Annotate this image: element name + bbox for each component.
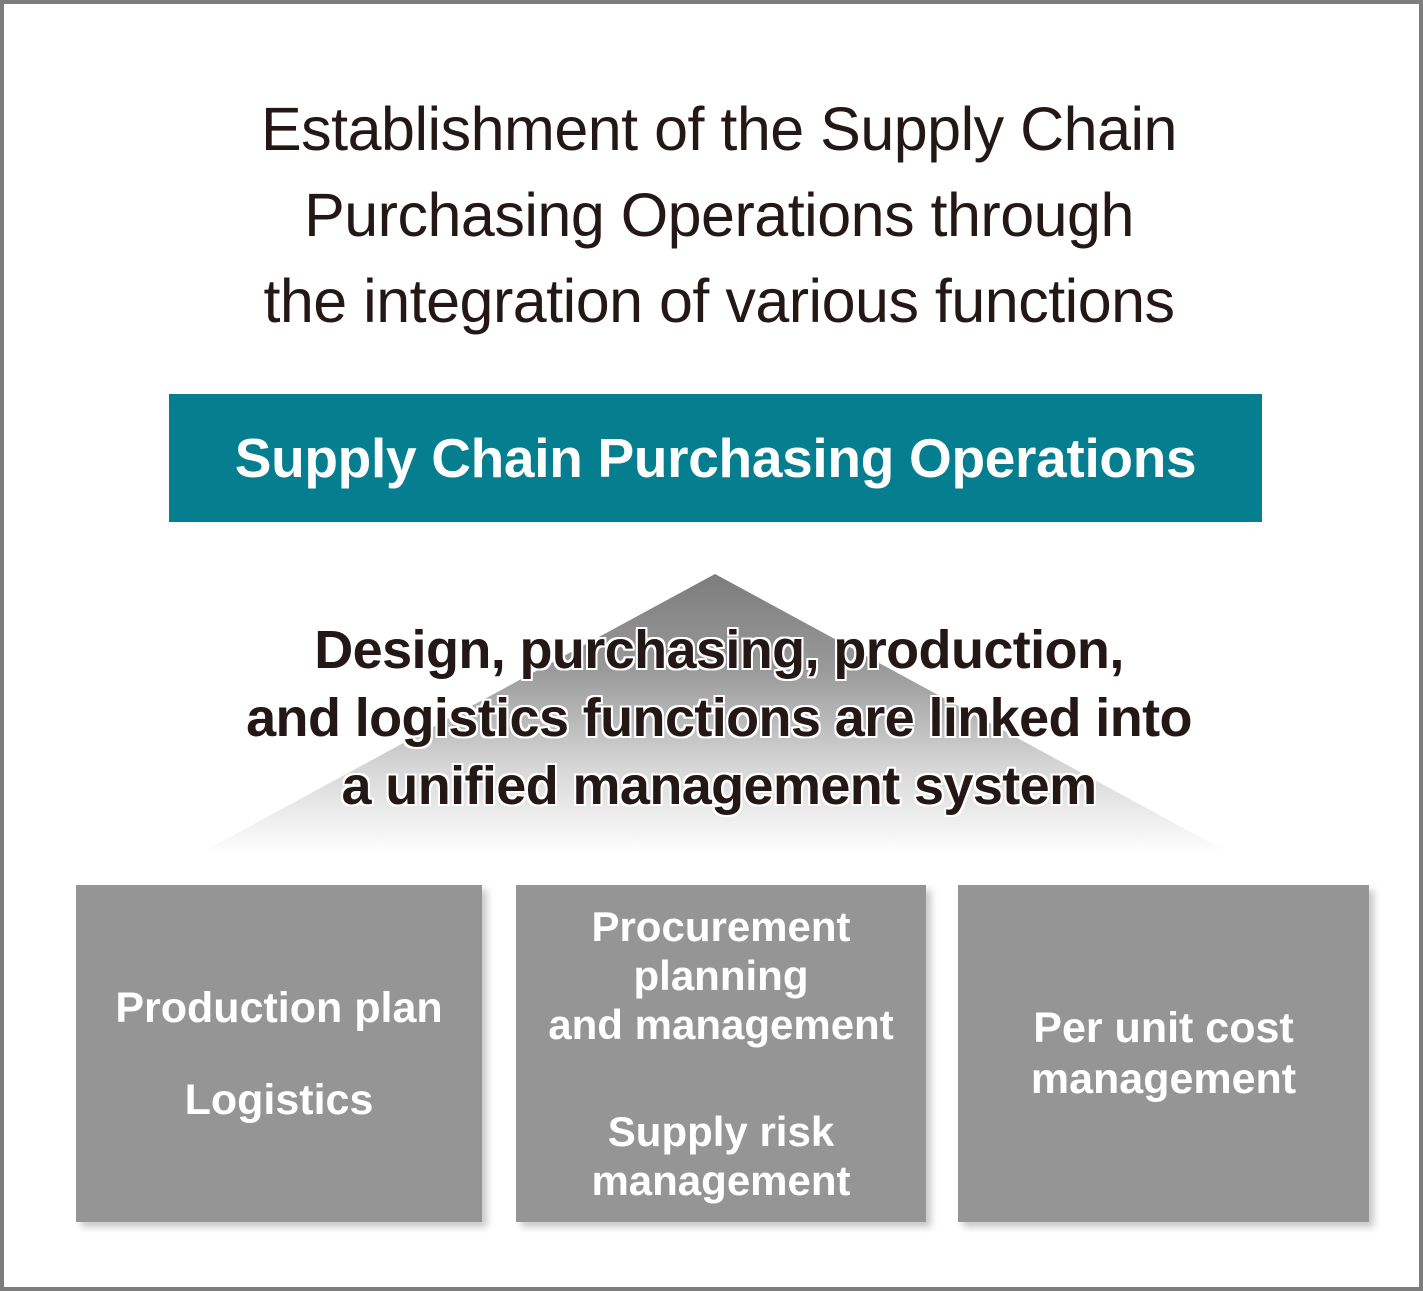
- title-line-1: Establishment of the Supply Chain: [154, 86, 1284, 172]
- function-box-text-secondary: Logistics: [185, 1075, 374, 1125]
- supply-chain-banner: Supply Chain Purchasing Operations: [169, 394, 1262, 522]
- diagram-canvas: Establishment of the Supply Chain Purcha…: [0, 0, 1423, 1291]
- function-box-text-primary: Production plan: [115, 983, 442, 1033]
- function-box-text-primary: Per unit cost management: [1031, 1003, 1296, 1105]
- title-line-3: the integration of various functions: [154, 258, 1284, 344]
- function-box-text-primary: Procurement planning and management: [548, 902, 893, 1049]
- page-title: Establishment of the Supply Chain Purcha…: [154, 86, 1284, 344]
- arrow-caption: Design, purchasing, production, and logi…: [114, 616, 1324, 820]
- function-box-production-plan-logistics[interactable]: Production plan Logistics: [76, 885, 482, 1222]
- title-line-2: Purchasing Operations through: [154, 172, 1284, 258]
- function-box-procurement-supply-risk[interactable]: Procurement planning and management Supp…: [516, 885, 926, 1222]
- caption-line-2: and logistics functions are linked into: [114, 684, 1324, 752]
- caption-line-1: Design, purchasing, production,: [114, 616, 1324, 684]
- function-box-text-secondary: Supply risk management: [591, 1107, 850, 1205]
- banner-label: Supply Chain Purchasing Operations: [235, 426, 1197, 490]
- caption-line-3: a unified management system: [114, 752, 1324, 820]
- function-box-per-unit-cost[interactable]: Per unit cost management: [958, 885, 1369, 1222]
